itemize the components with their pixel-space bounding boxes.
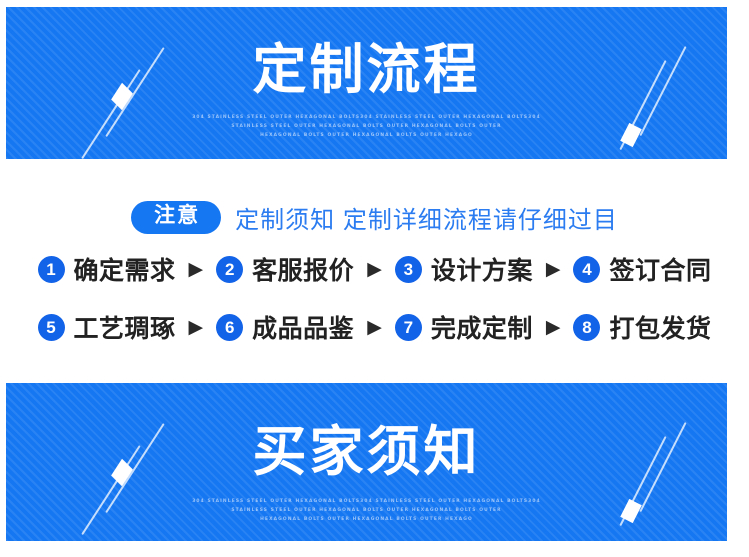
notice-row: 注意 定制须知 定制详细流程请仔细过目 [0, 200, 749, 235]
step-label: 签订合同 [609, 251, 711, 287]
notice-badge: 注意 [131, 201, 221, 234]
step-label: 设计方案 [431, 251, 533, 287]
step-label: 成品品鉴 [252, 309, 354, 345]
step-arrow-icon: ▶ [367, 260, 382, 279]
step-item-3: 3 设计方案 [395, 251, 533, 287]
banner-top-title: 定制流程 [6, 43, 727, 97]
step-arrow-icon: ▶ [546, 260, 561, 279]
step-item-1: 1 确定需求 [38, 251, 176, 287]
steps-container: 1 确定需求 ▶ 2 客服报价 ▶ 3 设计方案 ▶ 4 签订合同 [0, 240, 749, 356]
step-item-5: 5 工艺琱琢 [38, 309, 176, 345]
step-number-badge: 3 [395, 256, 422, 283]
step-item-8: 8 打包发货 [573, 309, 711, 345]
banner-bottom-title: 买家须知 [6, 425, 727, 479]
step-item-4: 4 签订合同 [573, 251, 711, 287]
banner-top-subtitle-line-1: 304 STAINLESS STEEL OUTER HEXAGONAL BOLT… [6, 113, 727, 122]
step-label: 工艺琱琢 [74, 309, 176, 345]
banner-bottom-subtitle-line-1: 304 STAINLESS STEEL OUTER HEXAGONAL BOLT… [6, 497, 727, 506]
step-number-badge: 5 [38, 314, 65, 341]
step-arrow-icon: ▶ [367, 318, 382, 337]
banner-top-subtitle: 304 STAINLESS STEEL OUTER HEXAGONAL BOLT… [6, 113, 727, 140]
banner-bottom-inner: 买家须知 304 STAINLESS STEEL OUTER HEXAGONAL… [6, 383, 727, 541]
step-item-6: 6 成品品鉴 [216, 309, 354, 345]
step-arrow-icon: ▶ [189, 260, 204, 279]
step-number-badge: 8 [573, 314, 600, 341]
step-label: 完成定制 [431, 309, 533, 345]
banner-top-subtitle-line-2: STAINLESS STEEL OUTER HEXAGONAL BOLTS OU… [6, 122, 727, 131]
banner-bottom-subtitle-line-2: STAINLESS STEEL OUTER HEXAGONAL BOLTS OU… [6, 506, 727, 515]
step-number-badge: 6 [216, 314, 243, 341]
banner-buyer-notice: 买家须知 304 STAINLESS STEEL OUTER HEXAGONAL… [6, 383, 727, 541]
step-number-badge: 4 [573, 256, 600, 283]
step-item-2: 2 客服报价 [216, 251, 354, 287]
step-label: 确定需求 [74, 251, 176, 287]
step-arrow-icon: ▶ [189, 318, 204, 337]
step-label: 客服报价 [252, 251, 354, 287]
process-content: 注意 定制须知 定制详细流程请仔细过目 1 确定需求 ▶ 2 客服报价 ▶ 3 … [0, 160, 749, 383]
banner-custom-process: 定制流程 304 STAINLESS STEEL OUTER HEXAGONAL… [6, 7, 727, 159]
step-row-1: 1 确定需求 ▶ 2 客服报价 ▶ 3 设计方案 ▶ 4 签订合同 [0, 240, 749, 298]
banner-bottom-subtitle: 304 STAINLESS STEEL OUTER HEXAGONAL BOLT… [6, 497, 727, 524]
step-number-badge: 7 [395, 314, 422, 341]
step-number-badge: 2 [216, 256, 243, 283]
notice-text: 定制须知 定制详细流程请仔细过目 [235, 200, 618, 235]
step-arrow-icon: ▶ [546, 318, 561, 337]
banner-top-inner: 定制流程 304 STAINLESS STEEL OUTER HEXAGONAL… [6, 7, 727, 159]
page-root: 定制流程 304 STAINLESS STEEL OUTER HEXAGONAL… [0, 0, 749, 557]
banner-bottom-subtitle-line-3: HEXAGONAL BOLTS OUTER HEXAGONAL BOLTS OU… [6, 515, 727, 524]
step-number-badge: 1 [38, 256, 65, 283]
banner-top-subtitle-line-3: HEXAGONAL BOLTS OUTER HEXAGONAL BOLTS OU… [6, 131, 727, 140]
step-row-2: 5 工艺琱琢 ▶ 6 成品品鉴 ▶ 7 完成定制 ▶ 8 打包发货 [0, 298, 749, 356]
step-item-7: 7 完成定制 [395, 309, 533, 345]
step-label: 打包发货 [609, 309, 711, 345]
